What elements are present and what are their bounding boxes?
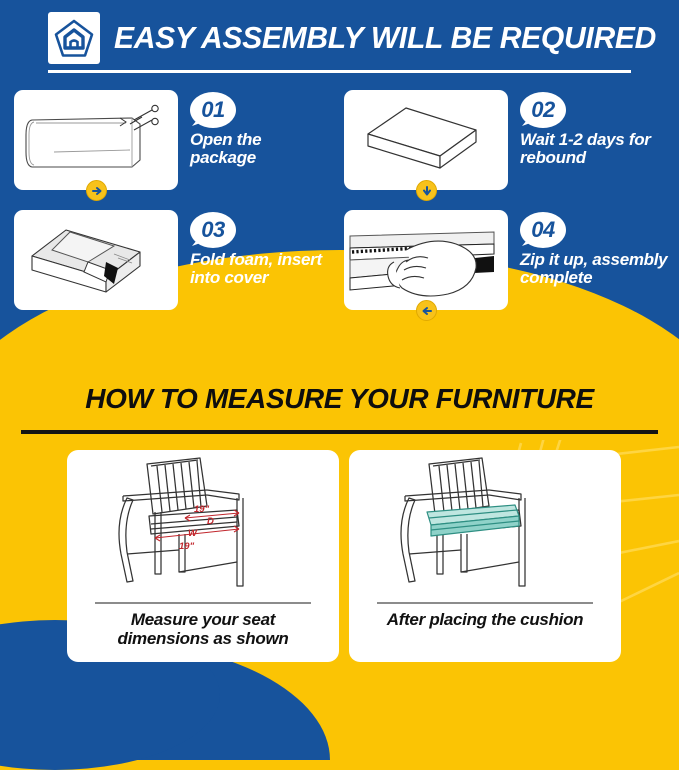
step-03-label: Fold foam, insert into cover — [190, 251, 340, 287]
step-01-number-badge: 01 — [190, 92, 236, 128]
step-03-image-card — [14, 210, 178, 310]
foam-folded-into-cover-icon — [14, 210, 178, 310]
step-04-arrow-left-icon — [416, 300, 437, 321]
panel-2-divider — [377, 602, 593, 604]
dim-width-value: 19" — [179, 541, 195, 552]
step-03-text: 03 Fold foam, insert into cover — [190, 212, 340, 287]
step-01-number: 01 — [201, 97, 224, 123]
step-01-image-card — [14, 90, 178, 190]
step-04-label: Zip it up, assembly complete — [520, 251, 670, 287]
flat-foam-slab-icon — [344, 90, 508, 190]
measure-title-divider — [21, 430, 658, 434]
step-01-arrow-right-icon — [86, 180, 107, 201]
step-card-04[interactable]: 04 Zip it up, assembly complete — [344, 210, 664, 320]
step-02-image-card — [344, 90, 508, 190]
step-02-number: 02 — [531, 97, 554, 123]
step-03-number: 03 — [201, 217, 224, 243]
rolled-package-with-scissors-icon — [14, 90, 178, 190]
measure-section-title: HOW TO MEASURE YOUR FURNITURE — [0, 383, 679, 415]
step-02-label: Wait 1-2 days for rebound — [520, 131, 670, 167]
step-02-arrow-down-icon — [416, 180, 437, 201]
step-card-03[interactable]: 03 Fold foam, insert into cover — [14, 210, 334, 320]
chair-with-seat-cushion-icon — [349, 450, 621, 600]
step-04-number-badge: 04 — [520, 212, 566, 248]
dim-width-label: W — [188, 528, 198, 539]
panel-1-caption: Measure your seat dimensions as shown — [77, 610, 329, 648]
panel-1-divider — [95, 602, 311, 604]
measure-panel-seat-dimensions[interactable]: 19" D W 19" Measure your seat dimensions… — [67, 450, 339, 662]
hand-zipping-zipper-icon — [344, 210, 508, 310]
page-title: EASY ASSEMBLY WILL BE REQUIRED — [114, 21, 656, 56]
step-02-text: 02 Wait 1-2 days for rebound — [520, 92, 670, 167]
step-04-image-card — [344, 210, 508, 310]
step-card-02[interactable]: 02 Wait 1-2 days for rebound — [344, 90, 664, 200]
dim-depth-value: 19" — [194, 504, 210, 515]
step-03-number-badge: 03 — [190, 212, 236, 248]
header-divider — [48, 70, 631, 73]
assembly-header: EASY ASSEMBLY WILL BE REQUIRED — [0, 8, 679, 68]
step-01-text: 01 Open the package — [190, 92, 340, 167]
step-01-label: Open the package — [190, 131, 340, 167]
dim-depth-label: D — [207, 516, 214, 527]
step-04-text: 04 Zip it up, assembly complete — [520, 212, 670, 287]
panel-2-caption: After placing the cushion — [359, 610, 611, 629]
house-pentagon-logo-icon — [48, 12, 100, 64]
chair-with-dimension-callouts-icon: 19" D W 19" — [67, 450, 339, 600]
step-04-number: 04 — [531, 217, 554, 243]
step-02-number-badge: 02 — [520, 92, 566, 128]
step-card-01[interactable]: 01 Open the package — [14, 90, 334, 200]
measure-panel-after-cushion[interactable]: After placing the cushion — [349, 450, 621, 662]
